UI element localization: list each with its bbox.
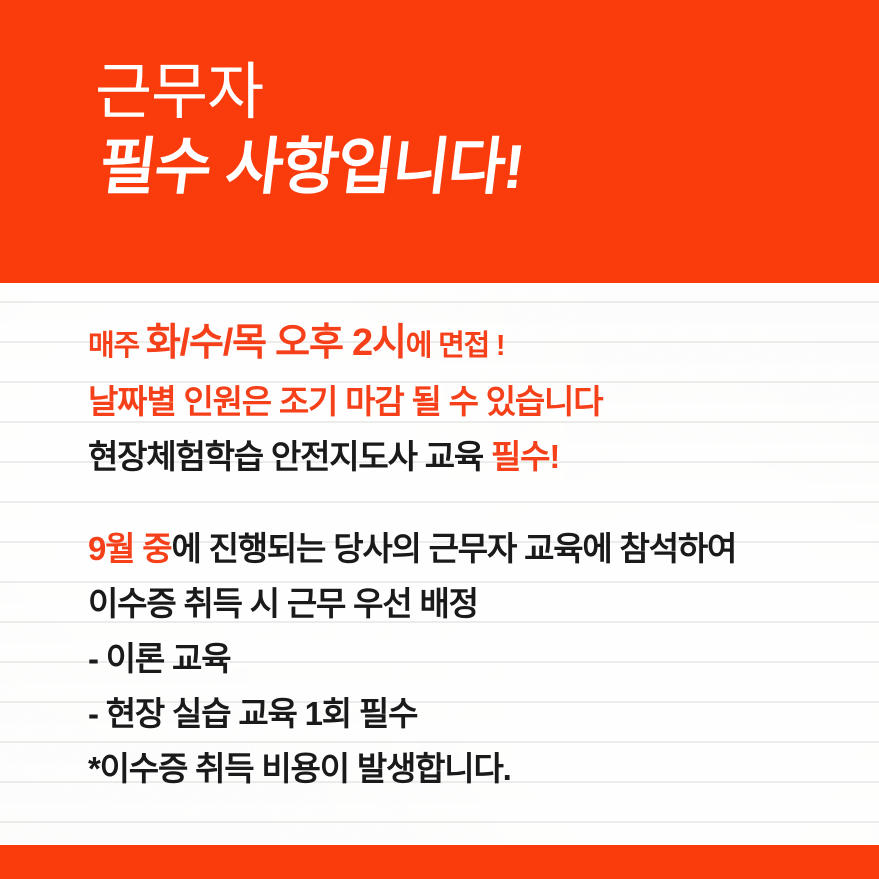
line-september-training: 9월 중에 진행되는 당사의 근무자 교육에 참석하여 <box>88 532 863 565</box>
header-title-line2: 필수 사항입니다! <box>95 133 868 202</box>
poster-canvas: 근무자 필수 사항입니다! 매주 화/수/목 오후 2시에 면접 ! 날짜별 인… <box>0 0 879 879</box>
september-rest: 에 진행되는 당사의 근무자 교육에 참석하여 <box>171 530 736 567</box>
body-text-group: 매주 화/수/목 오후 2시에 면접 ! 날짜별 인원은 조기 마감 될 수 있… <box>88 324 863 785</box>
paragraph-block-certification: 9월 중에 진행되는 당사의 근무자 교육에 참석하여 이수증 취득 시 근무 … <box>88 532 863 785</box>
line-required-training: 현장체험학습 안전지도사 교육 필수! <box>88 440 863 473</box>
paragraph-spacer <box>88 473 863 532</box>
header-banner: 근무자 필수 사항입니다! <box>0 0 879 283</box>
paragraph-block-schedule: 매주 화/수/목 오후 2시에 면접 ! 날짜별 인원은 조기 마감 될 수 있… <box>88 324 863 473</box>
header-text-group: 근무자 필수 사항입니다! <box>95 58 859 203</box>
interview-emphasis: 화/수/목 오후 2시 <box>146 322 406 364</box>
line-bullet-field-training: - 현장 실습 교육 1회 필수 <box>88 697 863 730</box>
header-title-line1: 근무자 <box>95 58 859 127</box>
line-bullet-theory-training: - 이론 교육 <box>88 642 863 675</box>
line-certificate-priority: 이수증 취득 시 근무 우선 배정 <box>88 587 863 620</box>
footer-banner <box>0 845 879 879</box>
required-training-label: 현장체험학습 안전지도사 교육 <box>88 438 491 475</box>
interview-prefix: 매주 <box>88 330 146 362</box>
required-training-emphasis: 필수! <box>491 438 559 475</box>
body-paper-background: 매주 화/수/목 오후 2시에 면접 ! 날짜별 인원은 조기 마감 될 수 있… <box>0 283 879 845</box>
interview-suffix: 에 면접 ! <box>406 330 505 362</box>
september-emphasis: 9월 중 <box>88 530 171 567</box>
line-deadline-notice: 날짜별 인원은 조기 마감 될 수 있습니다 <box>88 385 863 418</box>
line-interview-schedule: 매주 화/수/목 오후 2시에 면접 ! <box>88 324 863 362</box>
line-cost-note: *이수증 취득 비용이 발생합니다. <box>88 752 863 785</box>
